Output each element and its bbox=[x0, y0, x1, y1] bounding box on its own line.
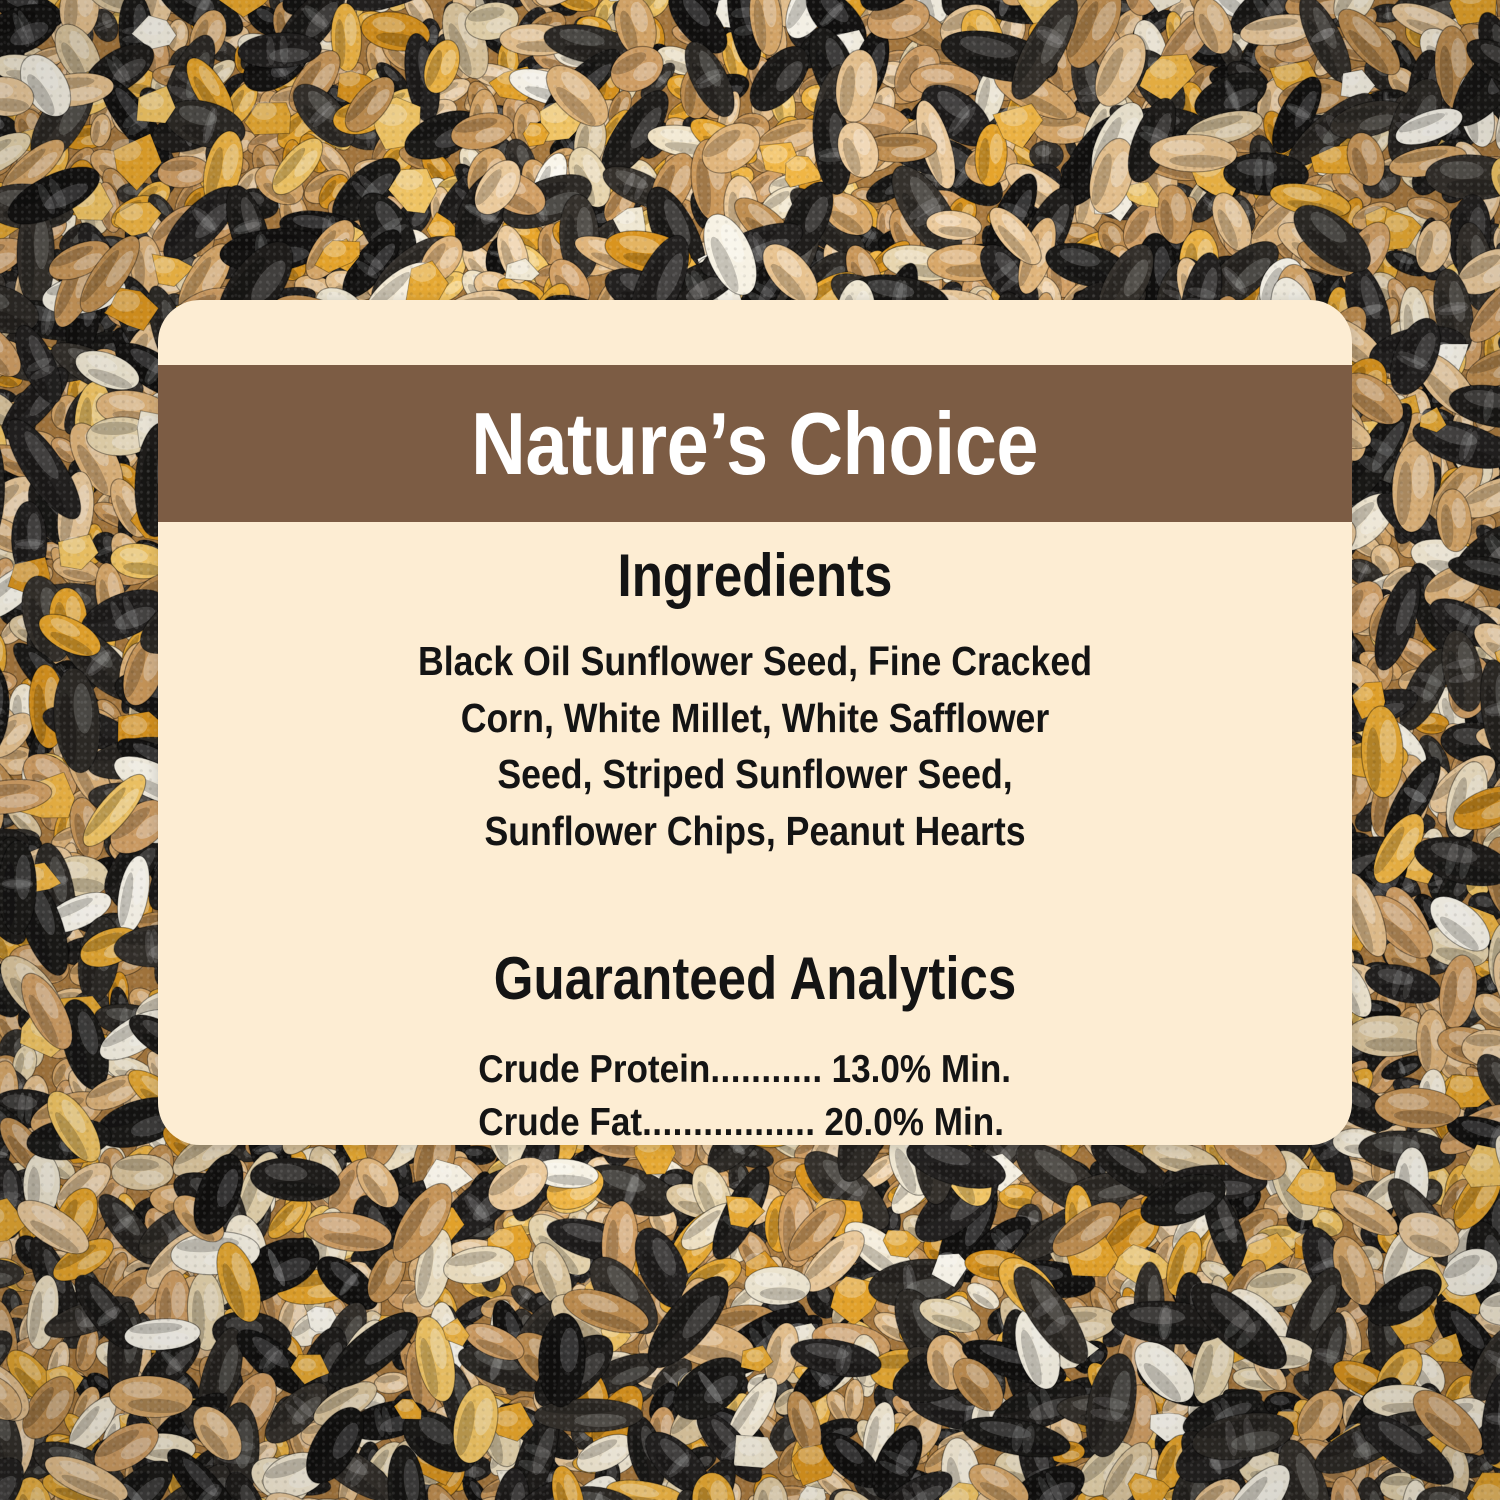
analytics-dot-leader: ........... bbox=[710, 1044, 822, 1096]
product-image: Nature’s Choice Ingredients Black Oil Su… bbox=[0, 0, 1500, 1500]
ingredients-heading: Ingredients bbox=[248, 544, 1263, 607]
ingredients-list: Black Oil Sunflower Seed, Fine Cracked C… bbox=[236, 633, 1275, 859]
ingredients-line: Black Oil Sunflower Seed, Fine Cracked bbox=[236, 633, 1275, 690]
analytics-label: Crude Protein bbox=[478, 1044, 710, 1096]
ingredients-line: Corn, White Millet, White Safflower bbox=[236, 690, 1275, 747]
guaranteed-analytics-heading: Guaranteed Analytics bbox=[248, 947, 1263, 1010]
card-body: Ingredients Black Oil Sunflower Seed, Fi… bbox=[158, 522, 1352, 1145]
guaranteed-analytics-table: Crude Protein ........... 13.0% Min. Cru… bbox=[218, 1044, 1293, 1145]
ingredients-line: Sunflower Chips, Peanut Hearts bbox=[236, 803, 1275, 860]
brand-banner: Nature’s Choice bbox=[158, 365, 1352, 522]
analytics-value: 20.0% Min. bbox=[824, 1097, 1003, 1145]
analytics-row: Crude Fat ................. 20.0% Min. bbox=[478, 1097, 1032, 1145]
product-info-card: Nature’s Choice Ingredients Black Oil Su… bbox=[158, 300, 1352, 1145]
analytics-label: Crude Fat bbox=[478, 1097, 642, 1145]
analytics-dot-leader: ................. bbox=[642, 1097, 815, 1145]
brand-title: Nature’s Choice bbox=[472, 400, 1039, 488]
analytics-row: Crude Protein ........... 13.0% Min. bbox=[478, 1044, 1032, 1096]
ingredients-line: Seed, Striped Sunflower Seed, bbox=[236, 746, 1275, 803]
analytics-value: 13.0% Min. bbox=[832, 1044, 1011, 1096]
